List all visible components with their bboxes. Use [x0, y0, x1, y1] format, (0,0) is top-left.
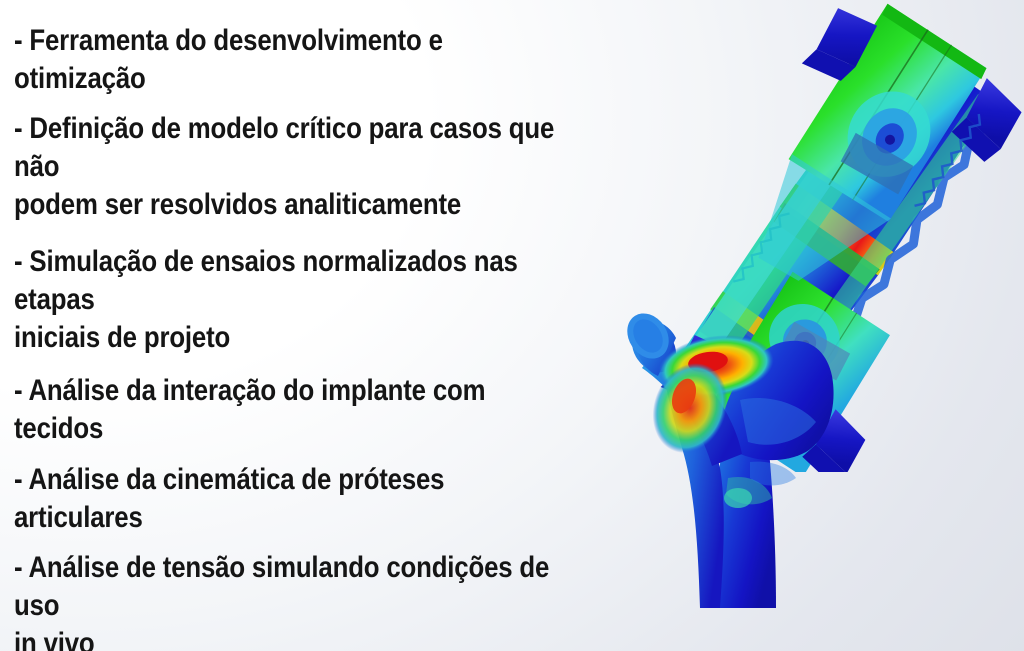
bullet-item-3: - Simulação de ensaios normalizados nas …	[14, 243, 570, 357]
bullet-item-4: - Análise da interação do implante com t…	[14, 372, 570, 448]
hip-stem-fea-image	[620, 290, 920, 630]
bullet-item-2: - Definição de modelo crítico para casos…	[14, 110, 570, 224]
slide-root: - Ferramenta do desenvolvimento e otimiz…	[0, 0, 1024, 651]
bullet-list: - Ferramenta do desenvolvimento e otimiz…	[0, 0, 660, 651]
bullet-item-5: - Análise da cinemática de próteses arti…	[14, 461, 570, 537]
bullet-item-1: - Ferramenta do desenvolvimento e otimiz…	[14, 22, 570, 98]
bone-plate-fea-image	[630, 0, 1024, 472]
bullet-item-6: - Análise de tensão simulando condições …	[14, 549, 570, 651]
